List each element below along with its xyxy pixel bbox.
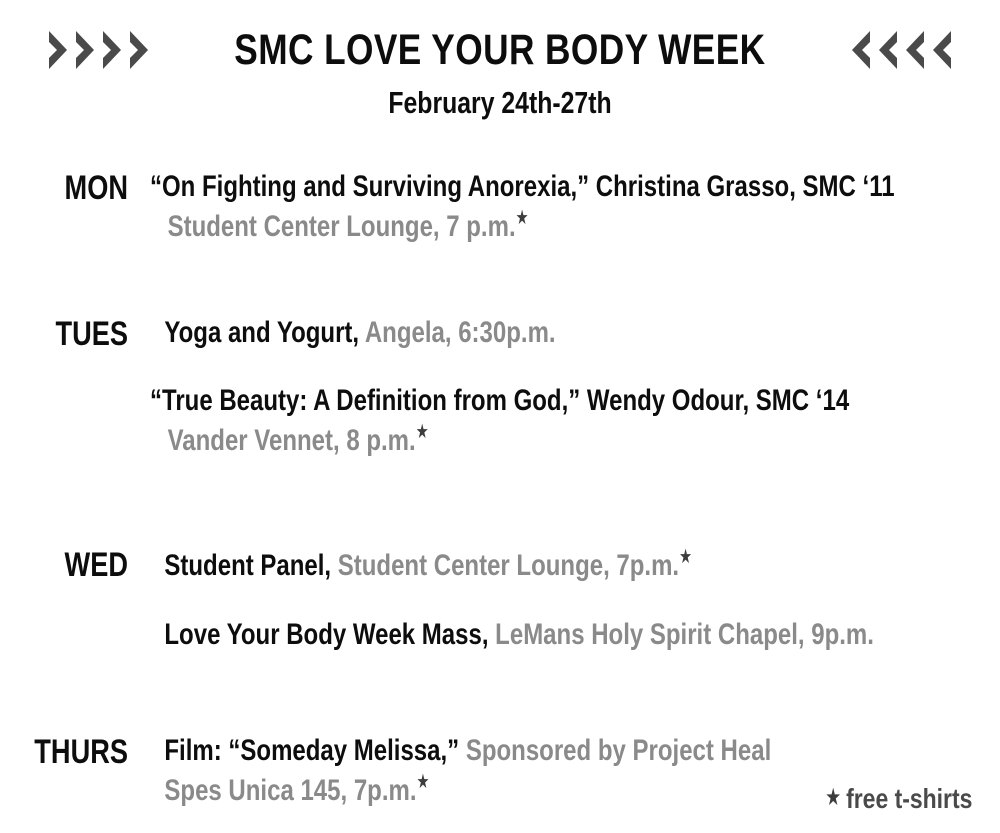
event-location-time: LeMans Holy Spirit Chapel, 9p.m. (489, 618, 874, 651)
chevron-left-icon (846, 29, 872, 71)
event-line-2: Spes Unica 145, 7p.m.★ (150, 770, 830, 810)
left-chevrons-group (47, 29, 154, 71)
event-date-range: February 24th-27th (100, 87, 900, 118)
event-location-time: Student Center Lounge, 7 p.m. (168, 210, 516, 243)
chevron-left-icon (927, 29, 953, 71)
event-line-1: Yoga and Yogurt, Angela, 6:30p.m. (150, 314, 849, 352)
footer-note-inner: ★free t-shirts (825, 783, 972, 815)
day-label-thurs: THURS (26, 732, 128, 771)
event-item: Love Your Body Week Mass, LeMans Holy Sp… (150, 616, 1000, 654)
chevron-right-icon (101, 29, 127, 71)
day-label-wed: WED (26, 545, 128, 584)
day-block-wed: WED Student Panel, Student Center Lounge… (0, 545, 1000, 653)
star-icon: ★ (416, 421, 429, 443)
star-icon: ★ (516, 207, 529, 229)
event-line-2: Vander Vennet, 8 p.m.★ (150, 420, 849, 460)
event-item: “On Fighting and Surviving Anorexia,” Ch… (150, 168, 1000, 246)
event-title: Student Panel, (164, 549, 331, 582)
event-line-1: Love Your Body Week Mass, LeMans Holy Sp… (150, 616, 874, 654)
event-location-time: Vander Vennet, 8 p.m. (168, 424, 416, 457)
day-label-tues: TUES (26, 314, 128, 353)
event-title: “True Beauty: A Definition from God,” We… (150, 384, 849, 417)
footer-note: ★free t-shirts (793, 783, 972, 815)
event-title: “On Fighting and Surviving Anorexia,” Ch… (150, 170, 895, 203)
event-line-2: Student Center Lounge, 7 p.m.★ (150, 206, 895, 246)
star-icon: ★ (825, 784, 841, 811)
right-chevrons-group (846, 29, 953, 71)
event-item: “True Beauty: A Definition from God,” We… (150, 382, 1000, 460)
event-location-time: Angela, 6:30p.m. (359, 316, 556, 349)
event-location-time: Spes Unica 145, 7p.m. (164, 774, 416, 807)
chevron-right-icon (128, 29, 154, 71)
chevron-left-icon (900, 29, 926, 71)
event-item: Yoga and Yogurt, Angela, 6:30p.m. (150, 314, 1000, 352)
event-location-time: Student Center Lounge, 7p.m. (331, 549, 679, 582)
event-sponsor: Sponsored by Project Heal (459, 734, 771, 767)
chevron-right-icon (74, 29, 100, 71)
day-events-wed: Student Panel, Student Center Lounge, 7p… (128, 545, 1000, 653)
event-item: Student Panel, Student Center Lounge, 7p… (150, 545, 1000, 585)
event-line-1: “On Fighting and Surviving Anorexia,” Ch… (150, 168, 895, 206)
chevron-right-icon (47, 29, 73, 71)
day-block-tues: TUES Yoga and Yogurt, Angela, 6:30p.m. “… (0, 314, 1000, 460)
title-row: SMC LOVE YOUR BODY WEEK (0, 22, 1000, 78)
poster-root: SMC LOVE YOUR BODY WEEK February 24th-27… (0, 0, 1000, 833)
star-icon: ★ (417, 771, 430, 793)
schedule-list: MON “On Fighting and Surviving Anorexia,… (0, 168, 1000, 810)
day-block-mon: MON “On Fighting and Surviving Anorexia,… (0, 168, 1000, 246)
poster-header: SMC LOVE YOUR BODY WEEK February 24th-27… (0, 0, 1000, 118)
day-label-mon: MON (26, 168, 128, 207)
page-title: SMC LOVE YOUR BODY WEEK (234, 29, 765, 72)
event-line-1: “True Beauty: A Definition from God,” We… (150, 382, 849, 420)
chevron-left-icon (873, 29, 899, 71)
day-events-mon: “On Fighting and Surviving Anorexia,” Ch… (128, 168, 1000, 246)
event-title: Love Your Body Week Mass, (164, 618, 488, 651)
star-icon: ★ (679, 546, 692, 568)
event-line-1: Film: “Someday Melissa,” Sponsored by Pr… (150, 732, 830, 770)
footer-note-label: free t-shirts (846, 783, 972, 814)
event-title: Yoga and Yogurt, (164, 316, 359, 349)
event-title: Film: “Someday Melissa,” (164, 734, 459, 767)
day-events-tues: Yoga and Yogurt, Angela, 6:30p.m. “True … (128, 314, 1000, 460)
event-line-1: Student Panel, Student Center Lounge, 7p… (150, 545, 874, 585)
